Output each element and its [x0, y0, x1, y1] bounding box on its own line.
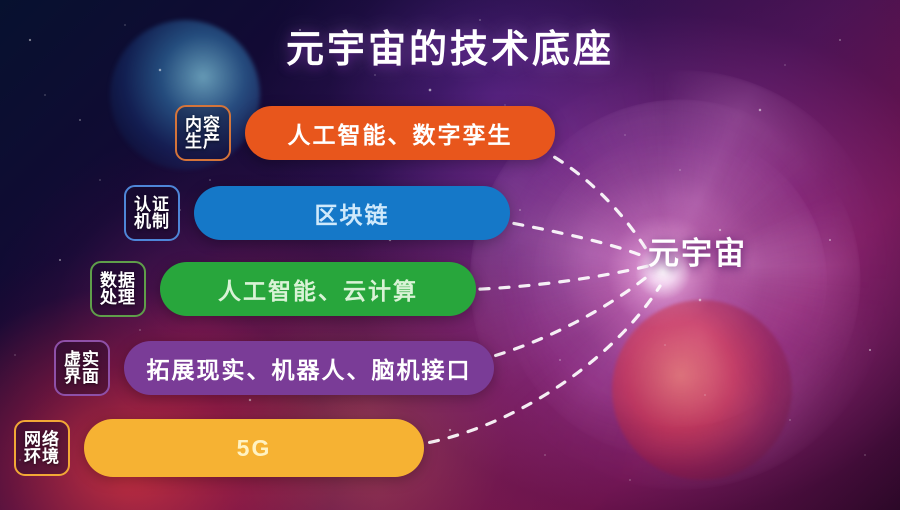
- tag-data-processing[interactable]: 数据 处理: [90, 261, 146, 317]
- layer-row-virtual-real-interface: 虚实 界面 拓展现实、机器人、脑机接口: [54, 340, 494, 396]
- tag-line-2: 机制: [134, 213, 170, 230]
- tag-line-1: 虚实: [64, 351, 100, 368]
- tag-line-2: 处理: [100, 289, 136, 306]
- bar-data-processing[interactable]: 人工智能、云计算: [160, 262, 476, 316]
- layer-row-data-processing: 数据 处理 人工智能、云计算: [90, 261, 476, 317]
- bar-network-environment[interactable]: 5G: [84, 419, 424, 477]
- layer-row-authentication: 认证 机制 区块链: [124, 185, 510, 241]
- tag-line-1: 数据: [100, 272, 136, 289]
- tag-virtual-real-interface[interactable]: 虚实 界面: [54, 340, 110, 396]
- tag-line-2: 界面: [64, 368, 100, 385]
- tag-line-1: 认证: [134, 196, 170, 213]
- tag-line-1: 网络: [24, 431, 60, 448]
- bar-content-production[interactable]: 人工智能、数字孪生: [245, 106, 555, 160]
- metaverse-label: 元宇宙: [648, 228, 747, 273]
- tag-line-1: 内容: [185, 116, 221, 133]
- layer-row-content-production: 内容 生产 人工智能、数字孪生: [175, 105, 555, 161]
- tag-network-environment[interactable]: 网络 环境: [14, 420, 70, 476]
- page-title: 元宇宙的技术底座: [0, 18, 900, 73]
- bar-authentication[interactable]: 区块链: [194, 186, 510, 240]
- bar-virtual-real-interface[interactable]: 拓展现实、机器人、脑机接口: [124, 341, 494, 395]
- tag-line-2: 生产: [185, 133, 221, 150]
- tag-line-2: 环境: [24, 448, 60, 465]
- tag-content-production[interactable]: 内容 生产: [175, 105, 231, 161]
- infographic-canvas: 元宇宙的技术底座 元宇宙 内容 生产 人工智能、数字孪生 认证 机制 区块链 数…: [0, 0, 900, 510]
- layer-row-network-environment: 网络 环境 5G: [14, 419, 424, 477]
- tag-authentication[interactable]: 认证 机制: [124, 185, 180, 241]
